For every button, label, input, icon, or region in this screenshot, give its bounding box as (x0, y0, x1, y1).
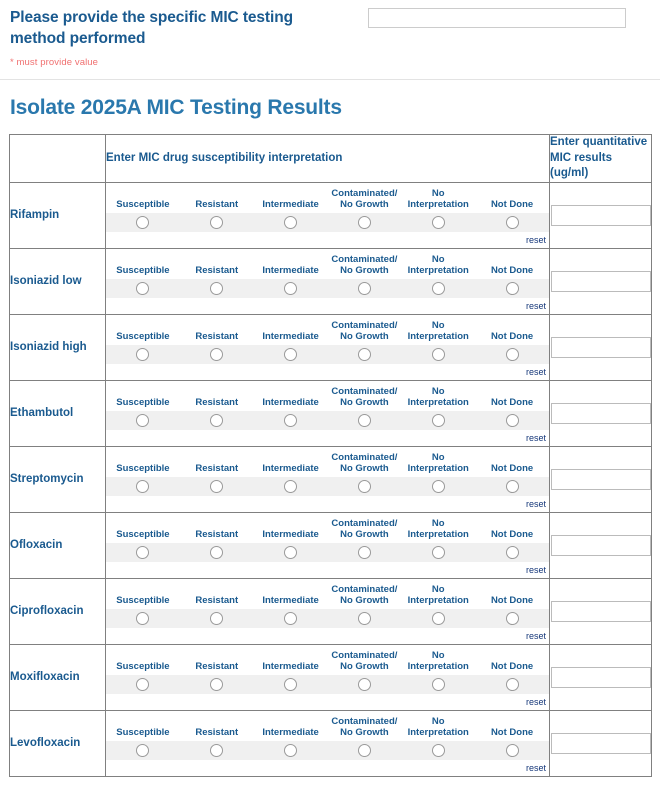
reset-row: reset (106, 760, 549, 774)
mic-value-cell (550, 644, 652, 710)
table-row: OfloxacinSusceptibleResistantIntermediat… (10, 512, 652, 578)
radio-button-icon[interactable] (358, 678, 371, 691)
interpretation-options-cell: SusceptibleResistantIntermediateContamin… (106, 248, 550, 314)
option-label: Contaminated/ No Growth (327, 321, 401, 345)
option-label: Susceptible (106, 662, 180, 675)
radio-button-icon[interactable] (506, 282, 519, 295)
radio-button-icon[interactable] (210, 480, 223, 493)
radio-band (106, 609, 549, 628)
mic-value-cell (550, 380, 652, 446)
radio-button-icon[interactable] (136, 744, 149, 757)
radio-option-2[interactable] (180, 743, 254, 757)
radio-band (106, 345, 549, 364)
interpretation-options-cell: SusceptibleResistantIntermediateContamin… (106, 182, 550, 248)
radio-option-4[interactable] (327, 347, 401, 361)
option-label: No Interpretation (401, 585, 475, 609)
radio-button-icon[interactable] (432, 348, 445, 361)
option-label: Contaminated/ No Growth (327, 585, 401, 609)
reset-row: reset (106, 298, 549, 312)
radio-band (106, 411, 549, 430)
radio-option-1[interactable] (106, 677, 180, 691)
radio-band (106, 675, 549, 694)
radio-button-icon[interactable] (432, 678, 445, 691)
option-label: Susceptible (106, 464, 180, 477)
option-label: Not Done (475, 596, 549, 609)
radio-option-3[interactable] (254, 677, 328, 691)
option-labels-row: SusceptibleResistantIntermediateContamin… (106, 713, 549, 741)
radio-option-5[interactable] (401, 611, 475, 625)
option-labels-row: SusceptibleResistantIntermediateContamin… (106, 581, 549, 609)
option-label: Not Done (475, 398, 549, 411)
option-label: Not Done (475, 464, 549, 477)
radio-button-icon[interactable] (432, 546, 445, 559)
radio-option-1[interactable] (106, 413, 180, 427)
mic-value-input[interactable] (551, 205, 651, 226)
option-label: Resistant (180, 530, 254, 543)
radio-button-icon[interactable] (136, 546, 149, 559)
radio-option-5[interactable] (401, 545, 475, 559)
radio-button-icon[interactable] (210, 678, 223, 691)
question-block: Please provide the specific MIC testing … (0, 0, 660, 79)
radio-button-icon[interactable] (432, 744, 445, 757)
radio-button-icon[interactable] (358, 612, 371, 625)
option-label: Intermediate (254, 530, 328, 543)
question-prompt: Please provide the specific MIC testing … (10, 8, 340, 50)
option-label: Intermediate (254, 398, 328, 411)
radio-option-4[interactable] (327, 479, 401, 493)
option-labels-row: SusceptibleResistantIntermediateContamin… (106, 647, 549, 675)
radio-option-2[interactable] (180, 413, 254, 427)
option-label: Contaminated/ No Growth (327, 189, 401, 213)
reset-row: reset (106, 430, 549, 444)
option-label: No Interpretation (401, 651, 475, 675)
mic-method-input[interactable] (368, 8, 626, 28)
option-label: Susceptible (106, 266, 180, 279)
option-label: Not Done (475, 530, 549, 543)
option-label: Contaminated/ No Growth (327, 387, 401, 411)
option-labels-row: SusceptibleResistantIntermediateContamin… (106, 185, 549, 213)
option-label: Susceptible (106, 530, 180, 543)
reset-row: reset (106, 562, 549, 576)
option-label: Contaminated/ No Growth (327, 453, 401, 477)
radio-button-icon[interactable] (358, 744, 371, 757)
required-field-note: * must provide value (10, 57, 98, 68)
radio-option-5[interactable] (401, 479, 475, 493)
radio-band (106, 741, 549, 760)
mic-value-input[interactable] (551, 469, 651, 490)
header-quantitative: Enter quantitative MIC results (ug/ml) (550, 135, 652, 183)
radio-button-icon[interactable] (136, 414, 149, 427)
reset-link[interactable]: reset (526, 565, 546, 575)
option-label: Resistant (180, 398, 254, 411)
option-label: No Interpretation (401, 321, 475, 345)
radio-band (106, 477, 549, 496)
radio-option-5[interactable] (401, 743, 475, 757)
interpretation-options-cell: SusceptibleResistantIntermediateContamin… (106, 578, 550, 644)
option-label: No Interpretation (401, 717, 475, 741)
reset-link[interactable]: reset (526, 763, 546, 773)
radio-option-1[interactable] (106, 611, 180, 625)
mic-value-input[interactable] (551, 535, 651, 556)
table-row: MoxifloxacinSusceptibleResistantIntermed… (10, 644, 652, 710)
drug-name-cell: Ethambutol (10, 380, 106, 446)
radio-option-4[interactable] (327, 677, 401, 691)
option-label: Contaminated/ No Growth (327, 717, 401, 741)
option-label: No Interpretation (401, 255, 475, 279)
reset-link[interactable]: reset (526, 367, 546, 377)
radio-option-6[interactable] (475, 545, 549, 559)
drug-name-cell: Rifampin (10, 182, 106, 248)
reset-link[interactable]: reset (526, 235, 546, 245)
option-label: Intermediate (254, 200, 328, 213)
option-label: Contaminated/ No Growth (327, 255, 401, 279)
radio-option-2[interactable] (180, 215, 254, 229)
option-label: Intermediate (254, 596, 328, 609)
radio-button-icon[interactable] (284, 546, 297, 559)
mic-value-cell (550, 710, 652, 776)
radio-button-icon[interactable] (506, 348, 519, 361)
mic-results-matrix: Enter MIC drug susceptibility interpreta… (0, 134, 660, 777)
drug-name-cell: Ciprofloxacin (10, 578, 106, 644)
radio-button-icon[interactable] (136, 282, 149, 295)
option-label: Contaminated/ No Growth (327, 651, 401, 675)
header-interpretation: Enter MIC drug susceptibility interpreta… (106, 135, 550, 183)
radio-button-icon[interactable] (284, 678, 297, 691)
radio-button-icon[interactable] (432, 414, 445, 427)
option-label: Susceptible (106, 332, 180, 345)
radio-button-icon[interactable] (432, 612, 445, 625)
mic-value-input[interactable] (551, 733, 651, 754)
interpretation-options-cell: SusceptibleResistantIntermediateContamin… (106, 512, 550, 578)
option-label: Not Done (475, 200, 549, 213)
radio-button-icon[interactable] (284, 612, 297, 625)
radio-button-icon[interactable] (432, 216, 445, 229)
reset-link[interactable]: reset (526, 499, 546, 509)
radio-option-6[interactable] (475, 215, 549, 229)
radio-button-icon[interactable] (136, 678, 149, 691)
radio-option-4[interactable] (327, 611, 401, 625)
mic-value-input[interactable] (551, 337, 651, 358)
radio-option-2[interactable] (180, 545, 254, 559)
table-row: EthambutolSusceptibleResistantIntermedia… (10, 380, 652, 446)
radio-button-icon[interactable] (506, 216, 519, 229)
mic-value-cell (550, 446, 652, 512)
radio-button-icon[interactable] (210, 546, 223, 559)
mic-value-input[interactable] (551, 601, 651, 622)
header-blank-cell (10, 135, 106, 183)
radio-option-1[interactable] (106, 281, 180, 295)
radio-band (106, 543, 549, 562)
radio-button-icon[interactable] (358, 414, 371, 427)
radio-button-icon[interactable] (432, 480, 445, 493)
option-label: Intermediate (254, 464, 328, 477)
radio-button-icon[interactable] (432, 282, 445, 295)
drug-name-cell: Isoniazid high (10, 314, 106, 380)
radio-button-icon[interactable] (136, 348, 149, 361)
option-label: Resistant (180, 728, 254, 741)
radio-option-6[interactable] (475, 479, 549, 493)
option-label: Intermediate (254, 266, 328, 279)
radio-option-1[interactable] (106, 215, 180, 229)
radio-option-2[interactable] (180, 347, 254, 361)
table-row: LevofloxacinSusceptibleResistantIntermed… (10, 710, 652, 776)
table-row: StreptomycinSusceptibleResistantIntermed… (10, 446, 652, 512)
drug-name-cell: Streptomycin (10, 446, 106, 512)
option-label: Not Done (475, 728, 549, 741)
radio-option-2[interactable] (180, 281, 254, 295)
reset-link[interactable]: reset (526, 433, 546, 443)
option-label: Not Done (475, 266, 549, 279)
mic-value-cell (550, 248, 652, 314)
radio-option-6[interactable] (475, 611, 549, 625)
interpretation-options-cell: SusceptibleResistantIntermediateContamin… (106, 314, 550, 380)
radio-button-icon[interactable] (506, 678, 519, 691)
radio-option-3[interactable] (254, 281, 328, 295)
option-label: Susceptible (106, 596, 180, 609)
mic-value-input[interactable] (551, 667, 651, 688)
radio-option-5[interactable] (401, 677, 475, 691)
drug-name-cell: Moxifloxacin (10, 644, 106, 710)
radio-option-4[interactable] (327, 281, 401, 295)
radio-option-6[interactable] (475, 743, 549, 757)
radio-button-icon[interactable] (136, 216, 149, 229)
radio-button-icon[interactable] (284, 348, 297, 361)
drug-name-cell: Isoniazid low (10, 248, 106, 314)
radio-button-icon[interactable] (284, 744, 297, 757)
radio-option-3[interactable] (254, 347, 328, 361)
radio-option-3[interactable] (254, 479, 328, 493)
option-label: Resistant (180, 200, 254, 213)
radio-option-5[interactable] (401, 347, 475, 361)
interpretation-options-cell: SusceptibleResistantIntermediateContamin… (106, 710, 550, 776)
option-label: Intermediate (254, 332, 328, 345)
option-label: No Interpretation (401, 453, 475, 477)
radio-button-icon[interactable] (210, 282, 223, 295)
radio-button-icon[interactable] (358, 216, 371, 229)
radio-option-5[interactable] (401, 413, 475, 427)
reset-link[interactable]: reset (526, 697, 546, 707)
option-labels-row: SusceptibleResistantIntermediateContamin… (106, 317, 549, 345)
reset-link[interactable]: reset (526, 631, 546, 641)
radio-button-icon[interactable] (136, 612, 149, 625)
radio-button-icon[interactable] (210, 744, 223, 757)
drug-name-cell: Levofloxacin (10, 710, 106, 776)
option-label: No Interpretation (401, 387, 475, 411)
radio-button-icon[interactable] (284, 282, 297, 295)
radio-option-2[interactable] (180, 677, 254, 691)
radio-option-5[interactable] (401, 281, 475, 295)
radio-option-1[interactable] (106, 479, 180, 493)
radio-option-1[interactable] (106, 743, 180, 757)
radio-button-icon[interactable] (210, 414, 223, 427)
mic-value-input[interactable] (551, 271, 651, 292)
radio-button-icon[interactable] (284, 414, 297, 427)
radio-option-6[interactable] (475, 677, 549, 691)
radio-button-icon[interactable] (358, 348, 371, 361)
drug-name-cell: Ofloxacin (10, 512, 106, 578)
table-row: CiprofloxacinSusceptibleResistantInterme… (10, 578, 652, 644)
radio-option-3[interactable] (254, 413, 328, 427)
radio-option-6[interactable] (475, 281, 549, 295)
radio-option-3[interactable] (254, 743, 328, 757)
radio-option-4[interactable] (327, 545, 401, 559)
option-label: Contaminated/ No Growth (327, 519, 401, 543)
radio-button-icon[interactable] (210, 216, 223, 229)
option-label: No Interpretation (401, 519, 475, 543)
radio-button-icon[interactable] (284, 216, 297, 229)
radio-button-icon[interactable] (358, 282, 371, 295)
reset-row: reset (106, 364, 549, 378)
reset-row: reset (106, 232, 549, 246)
option-label: Not Done (475, 332, 549, 345)
option-label: Not Done (475, 662, 549, 675)
table-row: Isoniazid highSusceptibleResistantInterm… (10, 314, 652, 380)
radio-option-5[interactable] (401, 215, 475, 229)
interpretation-options-cell: SusceptibleResistantIntermediateContamin… (106, 644, 550, 710)
radio-option-1[interactable] (106, 347, 180, 361)
page-title: Isolate 2025A MIC Testing Results (0, 80, 660, 134)
mic-value-cell (550, 314, 652, 380)
radio-option-3[interactable] (254, 611, 328, 625)
radio-button-icon[interactable] (358, 546, 371, 559)
radio-button-icon[interactable] (136, 480, 149, 493)
radio-option-4[interactable] (327, 743, 401, 757)
mic-value-cell (550, 578, 652, 644)
radio-option-6[interactable] (475, 347, 549, 361)
mic-value-cell (550, 182, 652, 248)
option-label: Susceptible (106, 398, 180, 411)
interpretation-options-cell: SusceptibleResistantIntermediateContamin… (106, 380, 550, 446)
option-label: Intermediate (254, 662, 328, 675)
radio-option-3[interactable] (254, 215, 328, 229)
option-label: No Interpretation (401, 189, 475, 213)
radio-button-icon[interactable] (506, 612, 519, 625)
radio-option-2[interactable] (180, 611, 254, 625)
radio-button-icon[interactable] (358, 480, 371, 493)
table-row: RifampinSusceptibleResistantIntermediate… (10, 182, 652, 248)
radio-button-icon[interactable] (506, 414, 519, 427)
option-label: Resistant (180, 596, 254, 609)
option-labels-row: SusceptibleResistantIntermediateContamin… (106, 251, 549, 279)
radio-button-icon[interactable] (210, 348, 223, 361)
table-header-row: Enter MIC drug susceptibility interpreta… (10, 135, 652, 183)
radio-option-4[interactable] (327, 215, 401, 229)
interpretation-options-cell: SusceptibleResistantIntermediateContamin… (106, 446, 550, 512)
radio-option-3[interactable] (254, 545, 328, 559)
option-label: Susceptible (106, 728, 180, 741)
radio-option-1[interactable] (106, 545, 180, 559)
table-row: Isoniazid lowSusceptibleResistantInterme… (10, 248, 652, 314)
mic-value-input[interactable] (551, 403, 651, 424)
mic-value-cell (550, 512, 652, 578)
reset-row: reset (106, 628, 549, 642)
option-label: Resistant (180, 662, 254, 675)
reset-row: reset (106, 496, 549, 510)
radio-button-icon[interactable] (284, 480, 297, 493)
radio-button-icon[interactable] (506, 480, 519, 493)
radio-option-2[interactable] (180, 479, 254, 493)
option-label: Resistant (180, 266, 254, 279)
mic-results-table: Enter MIC drug susceptibility interpreta… (9, 134, 652, 777)
option-labels-row: SusceptibleResistantIntermediateContamin… (106, 383, 549, 411)
reset-link[interactable]: reset (526, 301, 546, 311)
option-label: Susceptible (106, 200, 180, 213)
option-labels-row: SusceptibleResistantIntermediateContamin… (106, 515, 549, 543)
reset-row: reset (106, 694, 549, 708)
option-label: Resistant (180, 464, 254, 477)
radio-button-icon[interactable] (210, 612, 223, 625)
option-labels-row: SusceptibleResistantIntermediateContamin… (106, 449, 549, 477)
radio-band (106, 213, 549, 232)
radio-button-icon[interactable] (506, 546, 519, 559)
option-label: Intermediate (254, 728, 328, 741)
radio-button-icon[interactable] (506, 744, 519, 757)
option-label: Resistant (180, 332, 254, 345)
radio-option-4[interactable] (327, 413, 401, 427)
radio-band (106, 279, 549, 298)
radio-option-6[interactable] (475, 413, 549, 427)
